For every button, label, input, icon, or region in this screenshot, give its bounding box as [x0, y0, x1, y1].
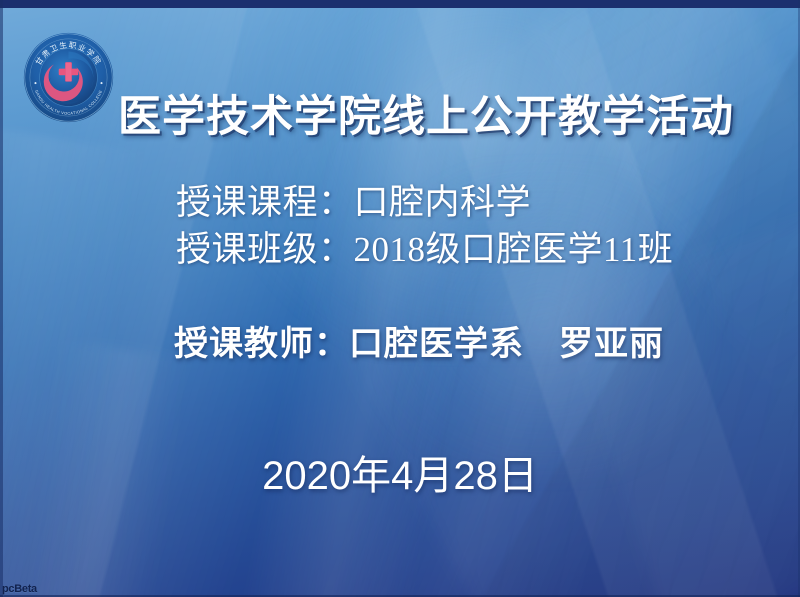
- presentation-slide: 甘肃卫生职业学院 GANSU HEALTH VOCATIONAL COLLEGE…: [0, 0, 800, 597]
- college-logo: 甘肃卫生职业学院 GANSU HEALTH VOCATIONAL COLLEGE: [22, 31, 115, 124]
- date-line: 2020年4月28日: [0, 452, 800, 500]
- course-class-line: 授课班级：2018级口腔医学11班: [176, 227, 796, 274]
- course-name-line: 授课课程：口腔内科学: [176, 180, 796, 227]
- course-info-block: 授课课程：口腔内科学 授课班级：2018级口腔医学11班: [176, 180, 796, 273]
- top-accent-band: [0, 0, 800, 8]
- page-title: 医学技术学院线上公开教学活动: [118, 94, 778, 140]
- slide-border-left: [0, 0, 3, 597]
- teacher-line: 授课教师：口腔医学系 罗亚丽: [174, 324, 664, 365]
- watermark-label: pcBeta: [2, 583, 37, 595]
